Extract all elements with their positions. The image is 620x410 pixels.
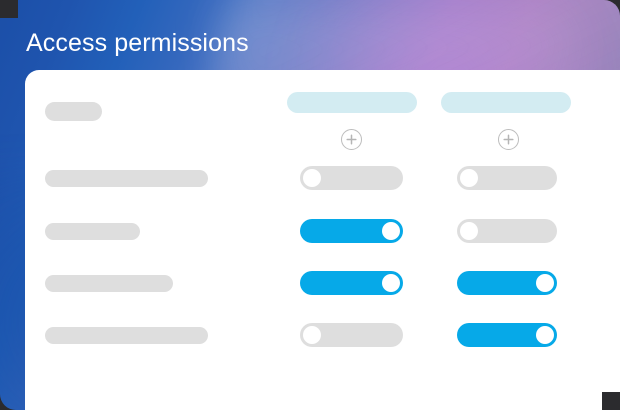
screenshot-root: Access permissions: [0, 0, 620, 410]
header-label-placeholder: [45, 102, 102, 121]
toggle-knob: [536, 274, 554, 292]
toggle-row-2-column-2[interactable]: [457, 219, 557, 243]
plus-icon: [503, 134, 514, 145]
toggle-row-4-column-1[interactable]: [300, 323, 403, 347]
toggle-row-3-column-2[interactable]: [457, 271, 557, 295]
toggle-row-2-column-1[interactable]: [300, 219, 403, 243]
toggle-knob: [460, 222, 478, 240]
permission-row-4-label: [45, 327, 208, 344]
permission-row-3-label: [45, 275, 173, 292]
corner-mask-top-left: [0, 0, 18, 18]
page-title: Access permissions: [26, 26, 249, 60]
toggle-row-3-column-1[interactable]: [300, 271, 403, 295]
toggle-row-1-column-2[interactable]: [457, 166, 557, 190]
toggle-knob: [382, 222, 400, 240]
toggle-knob: [382, 274, 400, 292]
corner-mask-bottom-right: [602, 392, 620, 410]
permission-row-1-label: [45, 170, 208, 187]
toggle-knob: [460, 169, 478, 187]
plus-icon: [346, 134, 357, 145]
toggle-row-4-column-2[interactable]: [457, 323, 557, 347]
permission-row-2-label: [45, 223, 140, 240]
column-header-pill-1: [287, 92, 417, 113]
column-header-pill-2: [441, 92, 571, 113]
toggle-knob: [536, 326, 554, 344]
permissions-card: [25, 70, 620, 410]
add-permission-button-column-2[interactable]: [498, 129, 519, 150]
toggle-knob: [303, 169, 321, 187]
add-permission-button-column-1[interactable]: [341, 129, 362, 150]
toggle-row-1-column-1[interactable]: [300, 166, 403, 190]
toggle-knob: [303, 326, 321, 344]
